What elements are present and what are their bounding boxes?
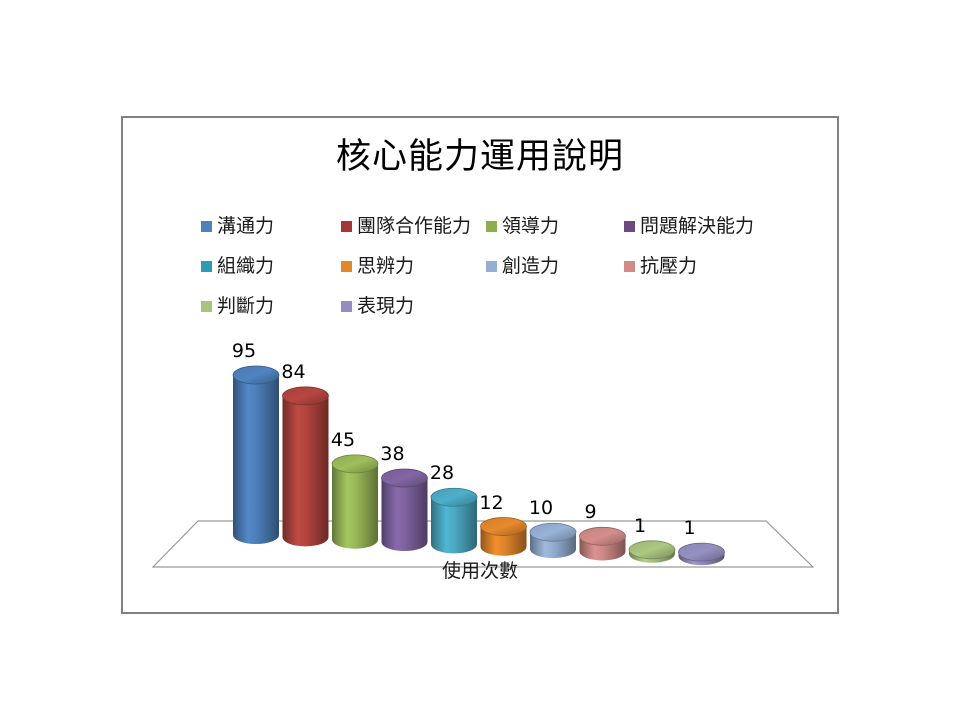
legend-item-判斷力[interactable]: 判斷力 xyxy=(201,286,274,326)
legend-item-組織力[interactable]: 組織力 xyxy=(201,246,274,286)
bar-創造力[interactable] xyxy=(530,523,576,558)
data-label: 45 xyxy=(315,431,371,450)
cylinder-body xyxy=(233,375,279,544)
legend-item-團隊合作能力[interactable]: 團隊合作能力 xyxy=(341,206,471,246)
legend-row: 溝通力團隊合作能力領導力問題解決能力 xyxy=(201,206,801,246)
cylinder-top xyxy=(332,455,378,473)
legend-item-表現力[interactable]: 表現力 xyxy=(341,286,414,326)
bar-溝通力[interactable] xyxy=(233,366,279,544)
cylinder-top xyxy=(481,518,527,536)
legend-swatch-icon xyxy=(201,301,212,312)
chart-plot-area: 95844538281210911 xyxy=(123,118,841,616)
legend-label: 團隊合作能力 xyxy=(357,217,471,236)
bar-團隊合作能力[interactable] xyxy=(283,387,329,546)
x-axis-caption: 使用次數 xyxy=(123,556,837,583)
bar-問題解決能力[interactable] xyxy=(382,469,428,551)
chart-title: 核心能力運用說明 xyxy=(123,135,837,179)
data-label: 12 xyxy=(464,494,520,513)
legend-swatch-icon xyxy=(341,301,352,312)
data-label: 28 xyxy=(414,464,470,483)
cylinder-body xyxy=(283,396,329,546)
bar-組織力[interactable] xyxy=(431,488,477,553)
legend-item-領導力[interactable]: 領導力 xyxy=(486,206,559,246)
chart-bars xyxy=(123,118,841,616)
legend-label: 抗壓力 xyxy=(640,257,697,276)
slide-canvas: 核心能力運用說明 溝通力團隊合作能力領導力問題解決能力組織力思辨力創造力抗壓力判… xyxy=(0,0,960,720)
legend-row: 組織力思辨力創造力抗壓力 xyxy=(201,246,801,286)
chart-floor xyxy=(123,118,841,616)
chart-frame[interactable]: 核心能力運用說明 溝通力團隊合作能力領導力問題解決能力組織力思辨力創造力抗壓力判… xyxy=(121,116,839,614)
data-label: 1 xyxy=(612,517,668,536)
legend-swatch-icon xyxy=(201,221,212,232)
cylinder-top xyxy=(283,387,329,405)
data-label: 84 xyxy=(266,363,322,382)
legend-label: 組織力 xyxy=(217,257,274,276)
cylinder-top xyxy=(233,366,279,384)
cylinder-body xyxy=(481,527,527,556)
legend-label: 問題解決能力 xyxy=(640,217,754,236)
legend-item-創造力[interactable]: 創造力 xyxy=(486,246,559,286)
legend-label: 表現力 xyxy=(357,297,414,316)
legend-item-抗壓力[interactable]: 抗壓力 xyxy=(624,246,697,286)
bar-思辨力[interactable] xyxy=(481,518,527,556)
legend-swatch-icon xyxy=(624,221,635,232)
cylinder-body xyxy=(530,532,576,558)
data-label: 95 xyxy=(216,342,272,361)
data-label: 9 xyxy=(563,503,619,522)
cylinder-body xyxy=(332,464,378,549)
legend-swatch-icon xyxy=(341,261,352,272)
chart-legend[interactable]: 溝通力團隊合作能力領導力問題解決能力組織力思辨力創造力抗壓力判斷力表現力 xyxy=(201,206,801,326)
cylinder-top xyxy=(580,527,626,545)
data-label: 10 xyxy=(513,499,569,518)
legend-swatch-icon xyxy=(341,221,352,232)
legend-label: 思辨力 xyxy=(357,257,414,276)
legend-swatch-icon xyxy=(486,261,497,272)
legend-item-問題解決能力[interactable]: 問題解決能力 xyxy=(624,206,754,246)
legend-swatch-icon xyxy=(201,261,212,272)
data-label: 1 xyxy=(662,519,718,538)
legend-row: 判斷力表現力 xyxy=(201,286,801,326)
legend-label: 創造力 xyxy=(502,257,559,276)
cylinder-top xyxy=(431,488,477,506)
legend-swatch-icon xyxy=(486,221,497,232)
cylinder-body xyxy=(382,478,428,551)
legend-swatch-icon xyxy=(624,261,635,272)
bar-領導力[interactable] xyxy=(332,455,378,549)
data-label: 38 xyxy=(365,445,421,464)
legend-label: 領導力 xyxy=(502,217,559,236)
cylinder-body xyxy=(431,497,477,553)
legend-label: 溝通力 xyxy=(217,217,274,236)
cylinder-top xyxy=(382,469,428,487)
cylinder-top xyxy=(530,523,576,541)
legend-item-思辨力[interactable]: 思辨力 xyxy=(341,246,414,286)
legend-item-溝通力[interactable]: 溝通力 xyxy=(201,206,274,246)
legend-label: 判斷力 xyxy=(217,297,274,316)
